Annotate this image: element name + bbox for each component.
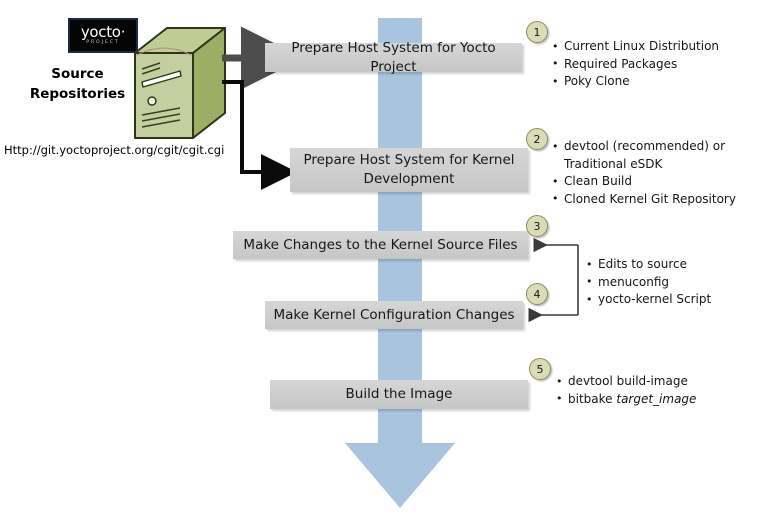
- bullet-item: Cloned Kernel Git Repository: [552, 191, 736, 209]
- step-2-bullet-list: devtool (recommended) or Traditional eSD…: [552, 138, 736, 208]
- bullet-item: Poky Clone: [552, 73, 719, 91]
- yocto-logo-wordmark: yocto·: [81, 25, 125, 40]
- step-number-2: 2: [526, 128, 548, 150]
- bullet-item: Edits to source: [586, 256, 711, 274]
- server-tower-icon: [130, 25, 230, 145]
- step-number-4: 4: [526, 283, 548, 305]
- step-number-1: 1: [526, 21, 548, 43]
- step-number-3: 3: [526, 215, 548, 237]
- diagram-canvas: yocto· PROJECT Source Repositories Http:…: [0, 0, 769, 517]
- step-box-make-kernel-config-changes[interactable]: Make Kernel Configuration Changes: [265, 301, 523, 329]
- source-label-line2: Repositories: [10, 84, 145, 104]
- bullet-item: Current Linux Distribution: [552, 38, 719, 56]
- bullet-item: Clean Build: [552, 173, 736, 191]
- step-number-5: 5: [529, 358, 551, 380]
- step-box-1-label: Prepare Host System for Yocto Project: [271, 39, 516, 77]
- step-box-make-kernel-source-changes[interactable]: Make Changes to the Kernel Source Files: [233, 231, 528, 259]
- step-box-3-label: Make Changes to the Kernel Source Files: [243, 236, 517, 255]
- bullet-item: Required Packages: [552, 56, 719, 74]
- step-box-prepare-host-yocto[interactable]: Prepare Host System for Yocto Project: [265, 43, 522, 72]
- step-5-bullet-list: devtool build-image bitbake target_image: [556, 373, 696, 408]
- process-flow-arrow: [340, 18, 460, 513]
- source-repository-url: Http://git.yoctoproject.org/cgit/cgit.cg…: [4, 143, 224, 157]
- source-label-line1: Source: [10, 64, 145, 84]
- step-box-prepare-host-kernel[interactable]: Prepare Host System for Kernel Developme…: [290, 148, 528, 192]
- bullet-item: devtool build-image: [556, 373, 696, 391]
- bullet-item: devtool (recommended) or Traditional eSD…: [552, 138, 736, 173]
- step-box-5-label: Build the Image: [346, 385, 453, 404]
- step-box-build-image[interactable]: Build the Image: [270, 380, 528, 409]
- yocto-logo-subtext: PROJECT: [86, 41, 119, 46]
- bullet-command-arg: target_image: [616, 392, 696, 406]
- step-box-2-label: Prepare Host System for Kernel Developme…: [303, 151, 514, 189]
- steps-3-4-bullet-list: Edits to source menuconfig yocto-kernel …: [586, 256, 711, 309]
- bullet-line-1: devtool (recommended) or: [564, 138, 736, 156]
- step-1-bullet-list: Current Linux Distribution Required Pack…: [552, 38, 719, 91]
- bullet-item: menuconfig: [586, 274, 711, 292]
- bullet-line-2: Traditional eSDK: [564, 156, 736, 174]
- bullet-command-prefix: bitbake: [568, 392, 616, 406]
- bullet-item: bitbake target_image: [556, 391, 696, 409]
- step-box-4-label: Make Kernel Configuration Changes: [273, 306, 514, 325]
- step-box-2-label-line2: Development: [364, 171, 455, 187]
- yocto-project-logo: yocto· PROJECT: [68, 18, 138, 53]
- step-box-2-label-line1: Prepare Host System for Kernel: [303, 152, 514, 168]
- bullet-item: yocto-kernel Script: [586, 291, 711, 309]
- source-repositories-label: Source Repositories: [10, 64, 145, 104]
